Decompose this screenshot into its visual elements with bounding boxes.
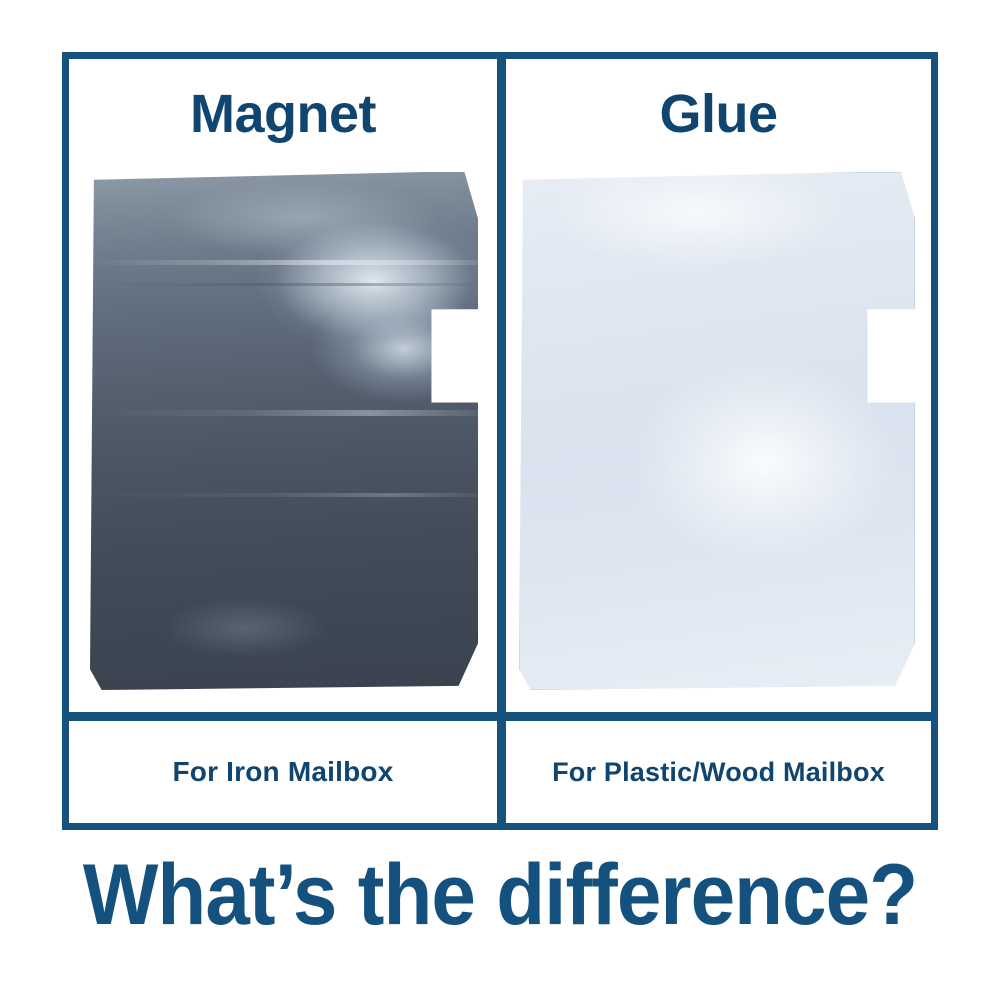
magnet-sheet-photo	[90, 172, 478, 690]
cell-glue-caption: For Plastic/Wood Mailbox	[506, 721, 931, 823]
magnet-crease-line	[90, 493, 478, 497]
column-divider	[497, 59, 506, 823]
headline-question: What’s the difference?	[35, 852, 965, 938]
cell-magnet-caption: For Iron Mailbox	[69, 721, 497, 823]
comparison-table: Magnet Glue For Iron Mailbox For Plastic…	[62, 52, 938, 830]
caption-magnet: For Iron Mailbox	[69, 721, 497, 823]
row-divider	[69, 712, 931, 721]
product-title-magnet: Magnet	[69, 87, 497, 141]
magnet-crease-line	[90, 283, 478, 286]
cell-glue-product: Glue	[506, 59, 931, 712]
product-title-glue: Glue	[506, 87, 931, 141]
magnet-sheen-band	[90, 260, 478, 265]
magnet-crease-line	[90, 410, 478, 416]
infographic-canvas: Magnet Glue For Iron Mailbox For Plastic…	[0, 0, 1000, 1000]
cell-magnet-product: Magnet	[69, 59, 497, 712]
caption-glue: For Plastic/Wood Mailbox	[506, 721, 931, 823]
glue-sheet-photo	[519, 172, 915, 690]
